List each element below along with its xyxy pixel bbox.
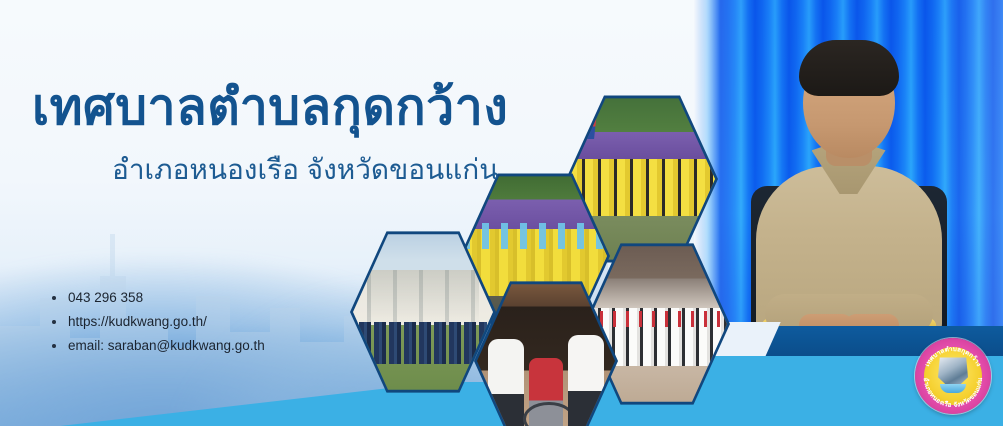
seal-top-textpath: เทศบาลตำบลกุดกว้าง <box>923 345 983 368</box>
contact-phone-text: 043 296 358 <box>68 290 143 305</box>
page-title: เทศบาลตำบลกุดกว้าง <box>32 82 508 132</box>
seal-bottom-text: อำเภอหนองเรือ จังหวัดขอนแก่น <box>922 377 984 409</box>
page-subtitle: อำเภอหนองเรือ จังหวัดขอนแก่น <box>112 156 498 184</box>
photo-collage <box>0 0 1003 426</box>
contact-website[interactable]: https://kudkwang.go.th/ <box>52 314 265 329</box>
municipality-banner: เทศบาลตำบลกุดกว้าง อำเภอหนองเรือ จังหวัด… <box>0 0 1003 426</box>
seal-top-text: เทศบาลตำบลกุดกว้าง <box>923 345 983 368</box>
contact-website-text: https://kudkwang.go.th/ <box>68 314 207 329</box>
contact-email-text: email: saraban@kudkwang.go.th <box>68 338 265 353</box>
seal-text-ring: เทศบาลตำบลกุดกว้าง อำเภอหนองเรือ จังหวัด… <box>915 338 991 414</box>
contact-list: 043 296 358 https://kudkwang.go.th/ emai… <box>52 290 265 362</box>
municipal-seal[interactable]: เทศบาลตำบลกุดกว้าง อำเภอหนองเรือ จังหวัด… <box>915 338 991 414</box>
seal-bottom-textpath: อำเภอหนองเรือ จังหวัดขอนแก่น <box>922 377 984 409</box>
contact-phone: 043 296 358 <box>52 290 265 305</box>
contact-email[interactable]: email: saraban@kudkwang.go.th <box>52 338 265 353</box>
